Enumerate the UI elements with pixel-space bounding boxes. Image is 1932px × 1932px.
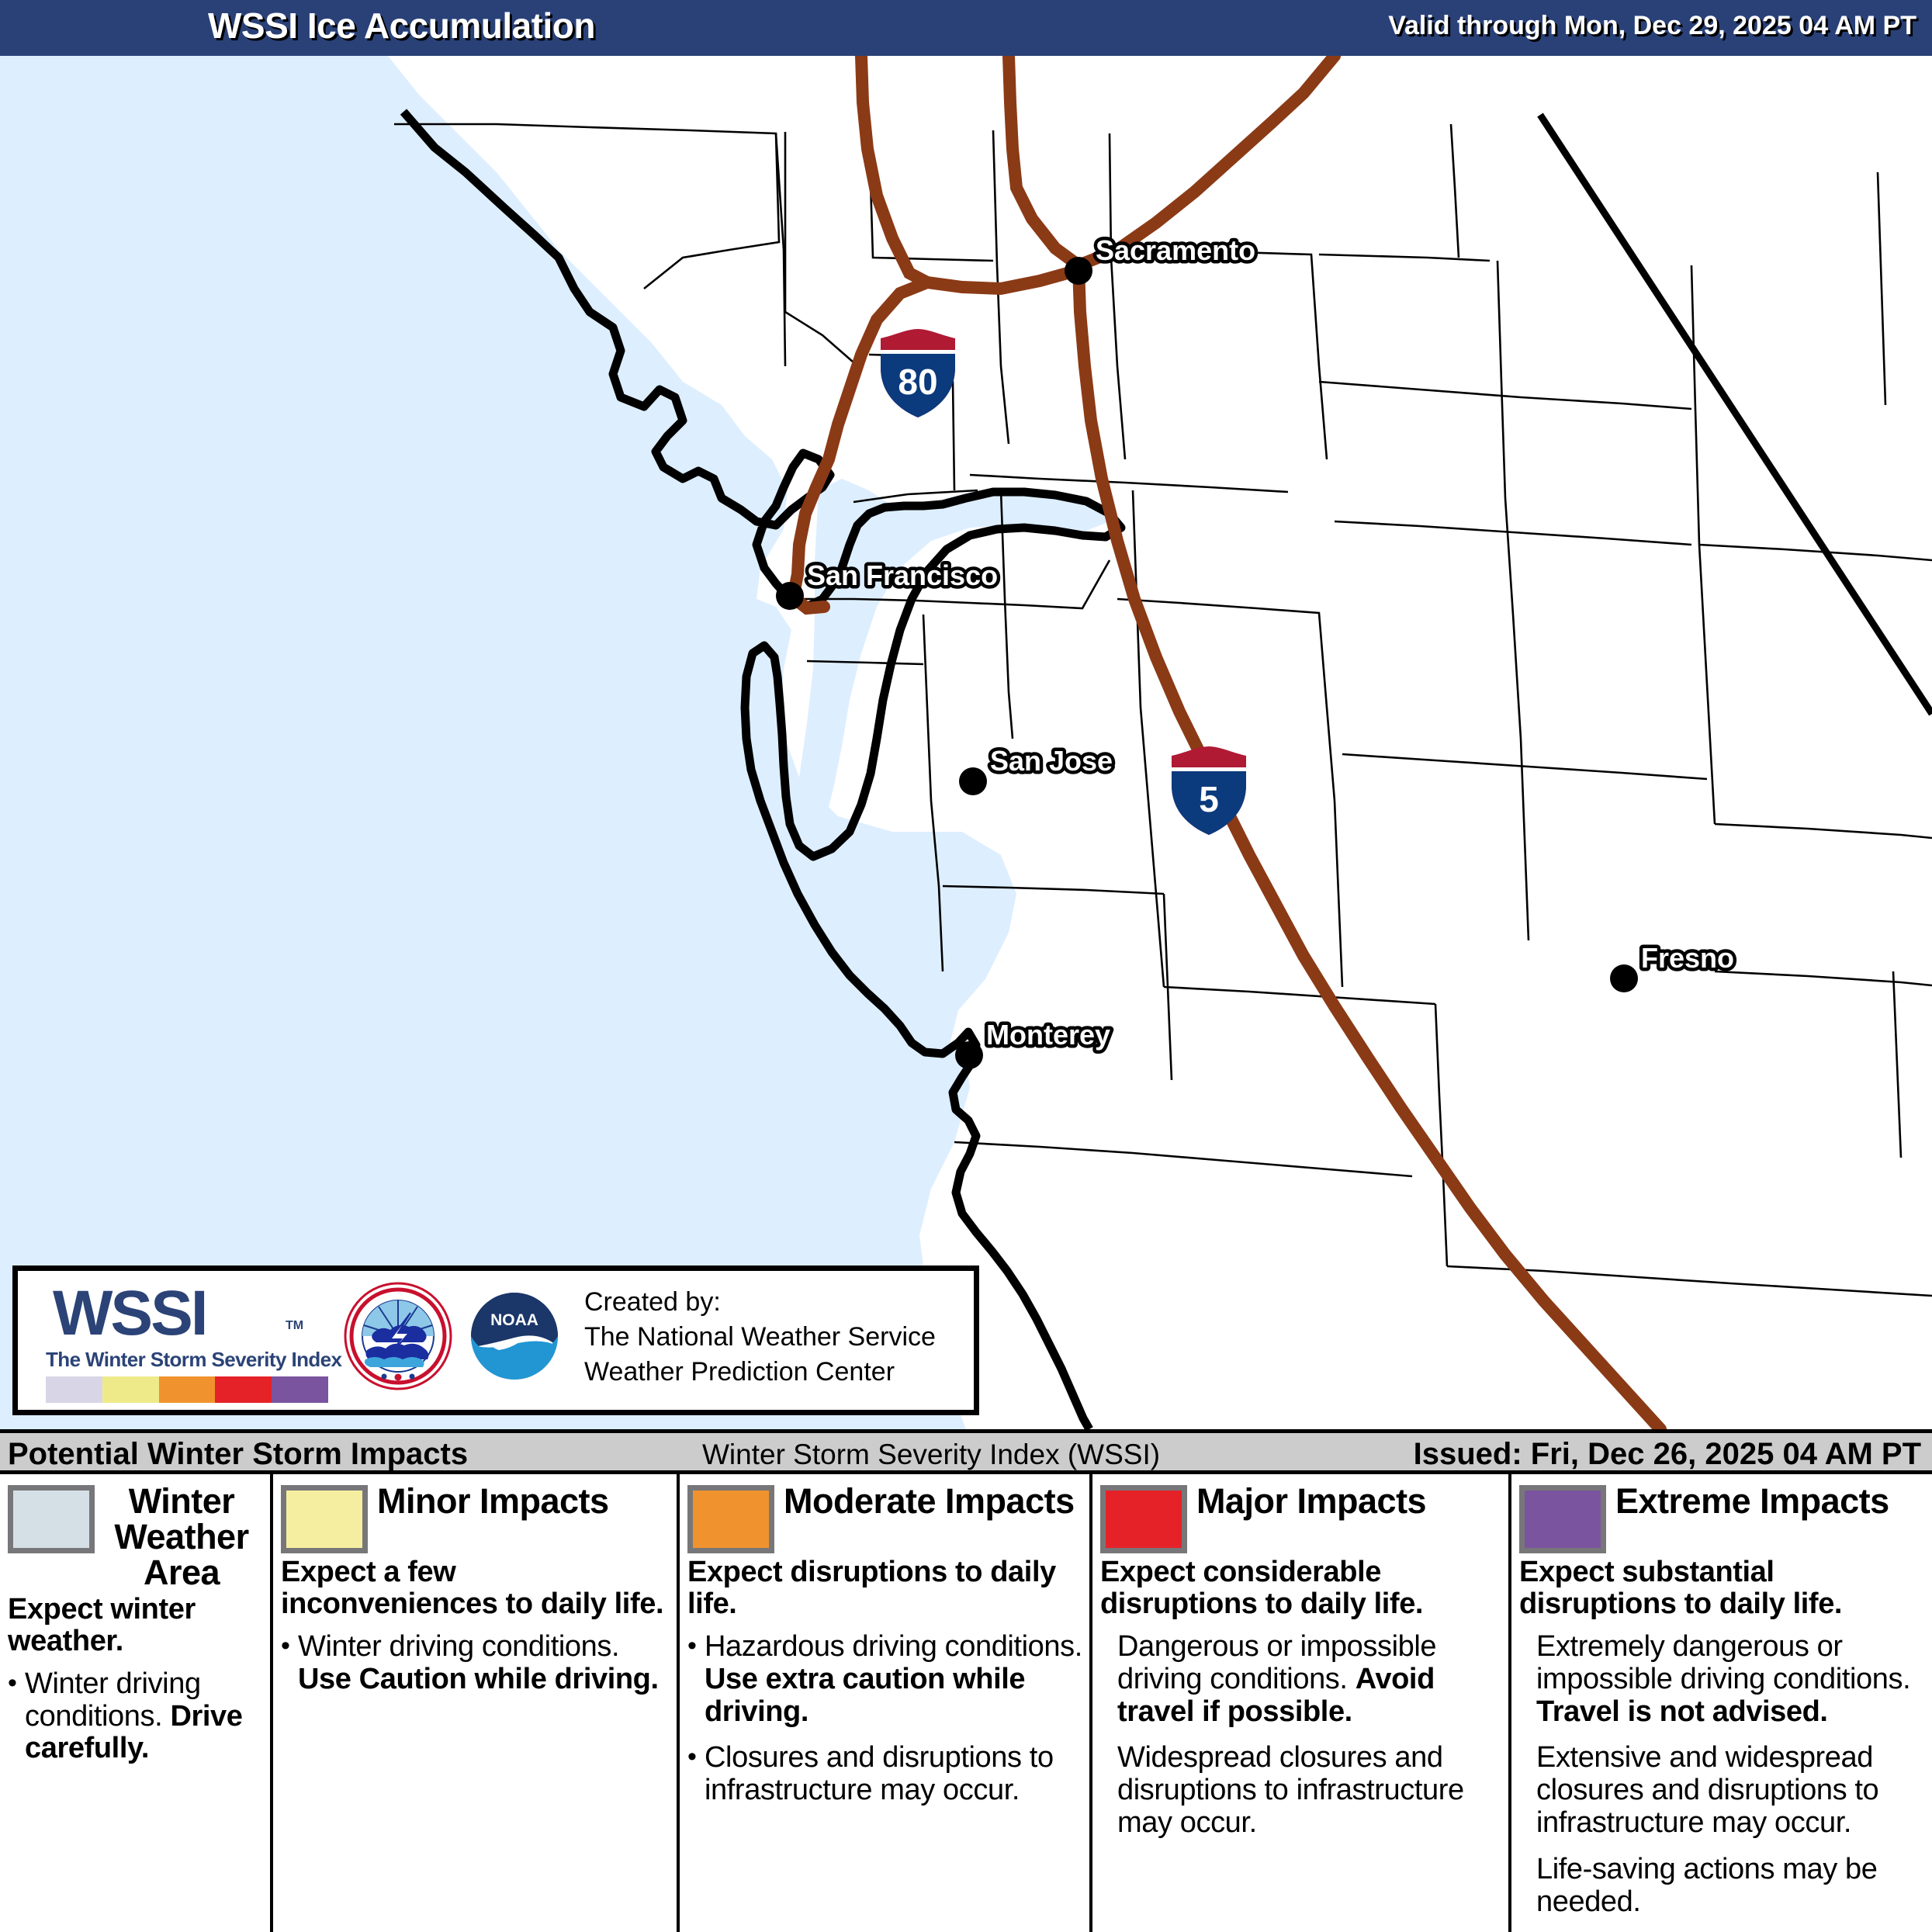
- app-header: WSSI Ice Accumulation Valid through Mon,…: [0, 0, 1932, 56]
- valid-through-text: Valid through Mon, Dec 29, 2025 04 AM PT: [1388, 11, 1916, 41]
- legend-column-body: Expect disruptions to daily life.•Hazard…: [680, 1553, 1089, 1807]
- legend-column-title: Winter Weather Area: [98, 1484, 265, 1591]
- page-title: WSSI Ice Accumulation: [208, 5, 595, 47]
- legend-swatch: [1519, 1485, 1606, 1553]
- land-polygon: [388, 56, 1932, 1429]
- gradient-swatch-0: [46, 1376, 102, 1403]
- bullet-dot-icon: •: [687, 1742, 705, 1807]
- legend-summary: Expect considerable disruptions to daily…: [1100, 1556, 1502, 1620]
- legend-column-extreme-impacts: Extreme ImpactsExpect substantial disrup…: [1511, 1474, 1932, 1932]
- legend-swatch: [687, 1485, 774, 1553]
- legend-column-title: Major Impacts: [1196, 1484, 1426, 1519]
- created-by-block: Created by: The National Weather Service…: [584, 1285, 936, 1390]
- legend-summary: Expect a few inconveniences to daily lif…: [281, 1556, 670, 1620]
- created-by-line-1: Created by:: [584, 1285, 936, 1320]
- legend-bullet-text: Extensive and widespread closures and di…: [1536, 1742, 1926, 1839]
- legend-bullet-item: Extremely dangerous or impossible drivin…: [1519, 1631, 1926, 1728]
- weather-map[interactable]: SacramentoSan FranciscoSan JoseFresnoMon…: [0, 56, 1932, 1429]
- wssi-severity-gradient-bar: [46, 1376, 328, 1403]
- noaa-logo-icon: NOAA: [460, 1282, 569, 1390]
- legend-bullet-text: Closures and disruptions to infrastructu…: [705, 1742, 1083, 1807]
- legend-bullet-text: Extremely dangerous or impossible drivin…: [1536, 1631, 1926, 1728]
- legend-bullet-text: Life-saving actions may be needed.: [1536, 1854, 1926, 1919]
- bullet-dot-icon: •: [687, 1631, 705, 1728]
- legend-column-title: Extreme Impacts: [1615, 1484, 1889, 1519]
- bullet-dot-icon: •: [8, 1668, 25, 1765]
- created-by-line-2: The National Weather Service: [584, 1320, 936, 1355]
- legend-bullet-emphasis: Drive carefully.: [25, 1700, 243, 1765]
- wssi-wordmark: WSSI: [53, 1277, 206, 1350]
- wssi-logo-box: WSSI TM The Winter Storm Severity Index …: [12, 1265, 979, 1415]
- legend-bullet-emphasis: Use Caution while driving.: [298, 1663, 659, 1695]
- legend-swatch: [1100, 1485, 1187, 1553]
- legend-bullet-item: Extensive and widespread closures and di…: [1519, 1742, 1926, 1839]
- legend-bullet-item: Dangerous or impossible driving conditio…: [1100, 1631, 1502, 1728]
- legend-column-header: Extreme Impacts: [1511, 1474, 1932, 1553]
- legend-bullet-item: •Winter driving conditions. Use Caution …: [281, 1631, 670, 1696]
- impacts-legend: Winter Weather AreaExpect winter weather…: [0, 1474, 1932, 1932]
- impacts-heading: Potential Winter Storm Impacts: [8, 1437, 468, 1472]
- legend-bullet-item: •Closures and disruptions to infrastruct…: [687, 1742, 1083, 1807]
- legend-bullet-emphasis: Avoid travel if possible.: [1117, 1663, 1435, 1728]
- legend-column-minor-impacts: Minor ImpactsExpect a few inconveniences…: [273, 1474, 680, 1932]
- gradient-swatch-3: [215, 1376, 272, 1403]
- legend-bullet-item: •Hazardous driving conditions. Use extra…: [687, 1631, 1083, 1728]
- legend-swatch: [8, 1485, 95, 1553]
- issued-timestamp: Issued: Fri, Dec 26, 2025 04 AM PT: [1414, 1437, 1921, 1472]
- legend-bullet-emphasis: Travel is not advised.: [1536, 1695, 1828, 1728]
- legend-summary: Expect winter weather.: [8, 1594, 264, 1657]
- legend-column-title: Moderate Impacts: [784, 1484, 1075, 1519]
- legend-swatch: [281, 1485, 368, 1553]
- legend-bullet-item: •Winter driving conditions. Drive carefu…: [8, 1668, 264, 1765]
- legend-column-header: Moderate Impacts: [680, 1474, 1089, 1553]
- legend-bullet-text: Hazardous driving conditions. Use extra …: [705, 1631, 1083, 1728]
- legend-column-header: Major Impacts: [1092, 1474, 1508, 1553]
- trademark-mark: TM: [286, 1319, 303, 1333]
- legend-column-moderate-impacts: Moderate ImpactsExpect disruptions to da…: [680, 1474, 1092, 1932]
- legend-column-body: Expect considerable disruptions to daily…: [1092, 1553, 1508, 1840]
- noaa-logo-text: NOAA: [490, 1311, 538, 1329]
- legend-column-body: Expect a few inconveniences to daily lif…: [273, 1553, 677, 1696]
- impacts-title-bar: Potential Winter Storm Impacts Winter St…: [0, 1429, 1932, 1474]
- wssi-fullname-label: Winter Storm Severity Index (WSSI): [702, 1439, 1160, 1471]
- legend-bullet-text: Winter driving conditions. Use Caution w…: [298, 1631, 670, 1696]
- gradient-swatch-4: [272, 1376, 328, 1403]
- legend-column-winter-weather-area: Winter Weather AreaExpect winter weather…: [0, 1474, 273, 1932]
- nws-logo-icon: [344, 1282, 452, 1390]
- legend-column-body: Expect winter weather.•Winter driving co…: [0, 1591, 270, 1765]
- gradient-swatch-1: [102, 1376, 159, 1403]
- legend-bullet-item: Life-saving actions may be needed.: [1519, 1854, 1926, 1919]
- legend-bullet-text: Widespread closures and disruptions to i…: [1117, 1742, 1502, 1839]
- legend-column-header: Winter Weather Area: [0, 1474, 270, 1591]
- wssi-subtitle: The Winter Storm Severity Index: [46, 1348, 341, 1372]
- legend-column-header: Minor Impacts: [273, 1474, 677, 1553]
- legend-column-title: Minor Impacts: [377, 1484, 609, 1519]
- gradient-swatch-2: [159, 1376, 216, 1403]
- legend-bullet-text: Winter driving conditions. Drive careful…: [25, 1668, 264, 1765]
- created-by-line-3: Weather Prediction Center: [584, 1355, 936, 1390]
- legend-bullet-emphasis: Use extra caution while driving.: [705, 1663, 1025, 1728]
- map-svg: [0, 56, 1932, 1429]
- legend-column-body: Expect substantial disruptions to daily …: [1511, 1553, 1932, 1918]
- legend-bullet-item: Widespread closures and disruptions to i…: [1100, 1742, 1502, 1839]
- legend-bullet-text: Dangerous or impossible driving conditio…: [1117, 1631, 1502, 1728]
- legend-column-major-impacts: Major ImpactsExpect considerable disrupt…: [1092, 1474, 1511, 1932]
- bullet-dot-icon: •: [281, 1631, 298, 1696]
- legend-summary: Expect substantial disruptions to daily …: [1519, 1556, 1926, 1620]
- legend-summary: Expect disruptions to daily life.: [687, 1556, 1083, 1620]
